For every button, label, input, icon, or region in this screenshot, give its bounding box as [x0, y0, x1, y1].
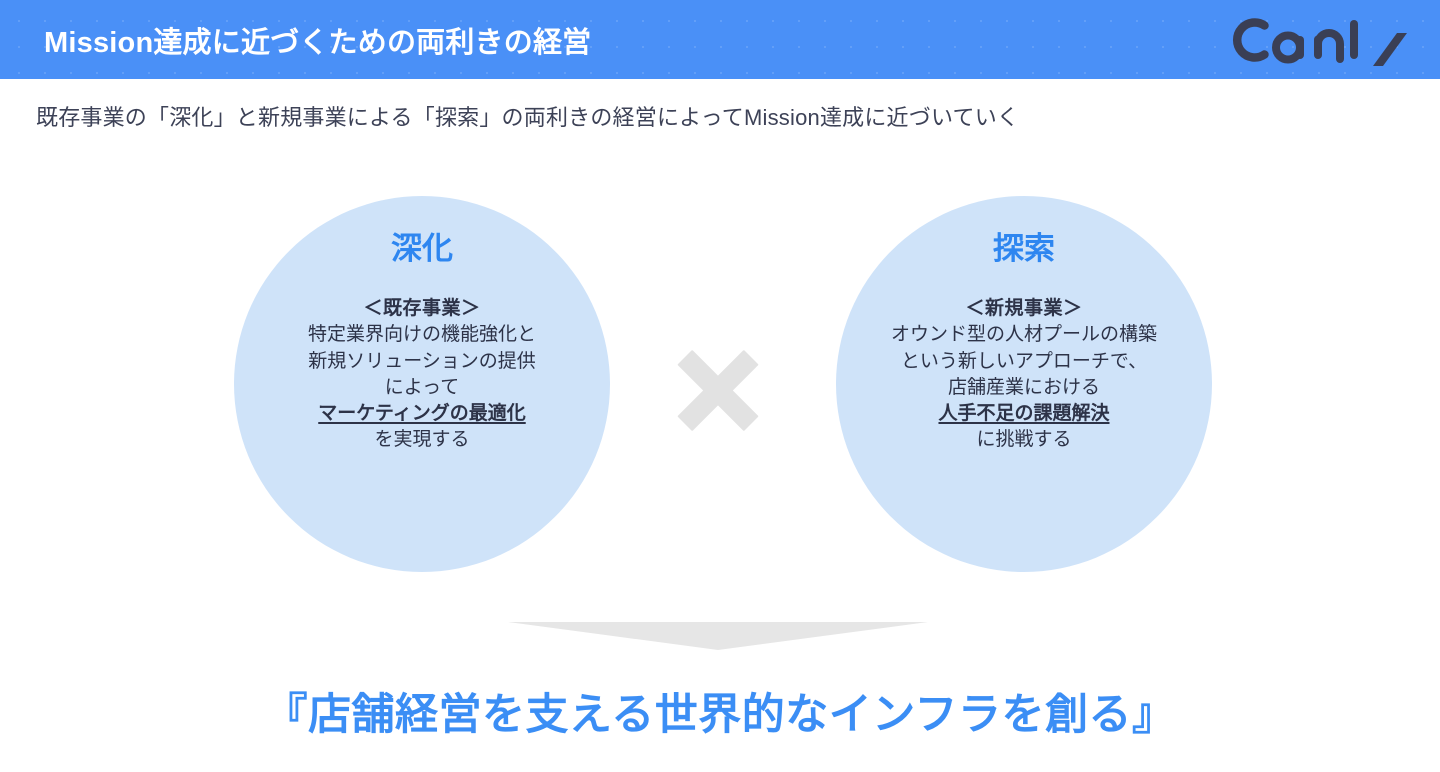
bubble-emphasis-fukaka: マーケティングの最適化 [257, 401, 587, 427]
bubble-body-fukaka: ＜既存事業＞ 特定業界向けの機能強化と 新規ソリューションの提供 によって マー… [257, 296, 587, 453]
chevron-down-icon [508, 620, 928, 652]
bubble-title-fukaka: 深化 [391, 232, 453, 266]
tagline: 『店舗経営を支える世界的なインフラを創る』 [0, 680, 1440, 742]
header-band: Mission達成に近づくための両利きの経営 [0, 0, 1440, 79]
canly-logo[interactable] [1226, 14, 1412, 66]
bubble-tail-fukaka: を実現する [257, 427, 587, 453]
bubble-fukaka: 深化 ＜既存事業＞ 特定業界向けの機能強化と 新規ソリューションの提供 によって… [234, 196, 610, 572]
bubble-lead-tansaku: ＜新規事業＞ [859, 296, 1189, 322]
bubble-title-tansaku: 探索 [993, 232, 1055, 266]
bubble-line-tansaku-3: 店舗産業における [859, 375, 1189, 401]
bubble-tail-tansaku: に挑戦する [859, 427, 1189, 453]
bubble-emphasis-tansaku: 人手不足の課題解決 [859, 401, 1189, 427]
subtitle: 既存事業の「深化」と新規事業による「探索」の両利きの経営によってMission達… [36, 100, 1019, 132]
bubble-line-tansaku-2: という新しいアプローチで、 [859, 349, 1189, 375]
bubble-line-fukaka-1: 特定業界向けの機能強化と [257, 322, 587, 348]
bubble-lead-fukaka: ＜既存事業＞ [257, 296, 587, 322]
bubble-line-fukaka-3: によって [257, 375, 587, 401]
bubble-body-tansaku: ＜新規事業＞ オウンド型の人材プールの構築 という新しいアプローチで、 店舗産業… [859, 296, 1189, 453]
bubble-line-tansaku-1: オウンド型の人材プールの構築 [859, 322, 1189, 348]
bubble-line-fukaka-2: 新規ソリューションの提供 [257, 349, 587, 375]
bubble-tansaku: 探索 ＜新規事業＞ オウンド型の人材プールの構築 という新しいアプローチで、 店… [836, 196, 1212, 572]
slide-root: Mission達成に近づくための両利きの経営 既存事業の「深化」と新規事業による [0, 0, 1440, 772]
multiply-icon [676, 348, 760, 432]
page-title: Mission達成に近づくための両利きの経営 [44, 19, 591, 61]
